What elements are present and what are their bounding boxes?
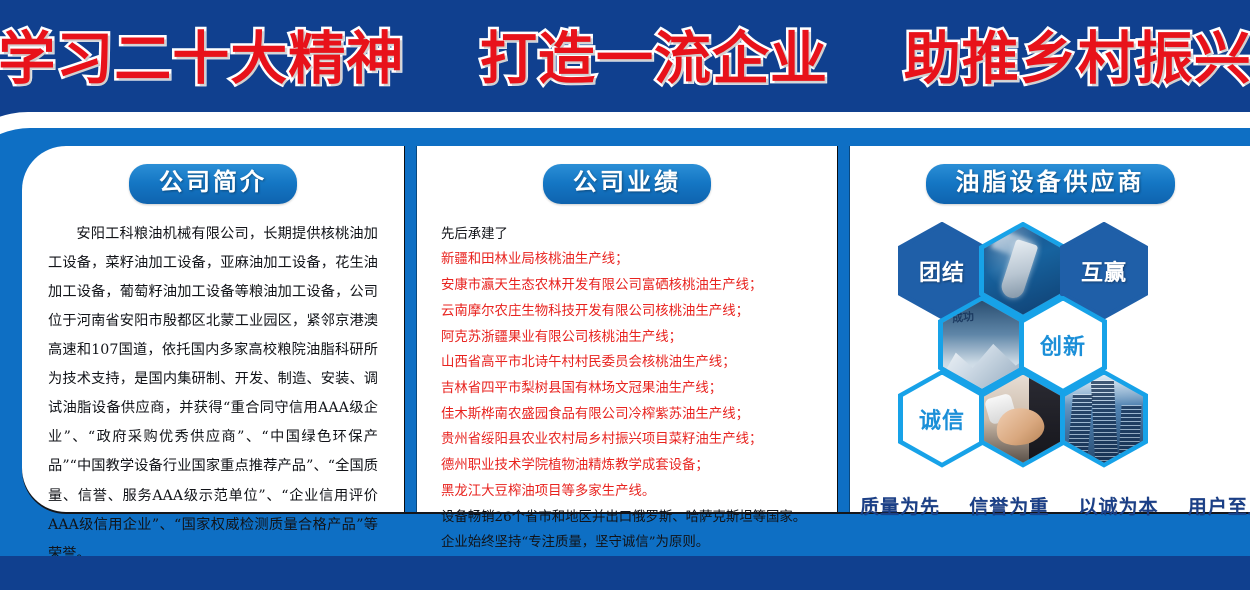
mountain-calligraphy: 成功 [952, 308, 976, 326]
poster-headline: 学习二十大精神 打造一流企业 助推乡村振兴 [0, 13, 1250, 95]
company-performance-body: 先后承建了 新疆和田林业局核桃油生产线； 安康市瀛天生态农林开发有限公司富硒核桃… [435, 222, 819, 557]
poster-board: 学习二十大精神 打造一流企业 助推乡村振兴 公司简介 安阳工科粮油机械有限公司，… [0, 0, 1250, 590]
performance-project: 贵州省绥阳县农业农村局乡村振兴项目菜籽油生产线； [441, 427, 819, 453]
company-intro-title: 公司简介 [129, 164, 297, 204]
panel-company-performance: 公司业绩 先后承建了 新疆和田林业局核桃油生产线； 安康市瀛天生态农林开发有限公… [417, 146, 837, 512]
bottom-navy-band [0, 556, 1250, 590]
performance-footer: 企业始终坚持“专注质量，坚守诚信”为原则。 [441, 530, 819, 556]
hex-mountain-inner: 成功 [943, 301, 1021, 389]
handshake-icon [984, 375, 1062, 463]
performance-project: 黑龙江大豆榨油项目等多家生产线。 [441, 479, 819, 505]
slogan-part-4: 用户至上 [1188, 496, 1250, 518]
performance-project: 新疆和田林业局核桃油生产线； [441, 247, 819, 273]
performance-project: 山西省高平市北诗午村村民委员会核桃油生产线； [441, 350, 819, 376]
hex-tuanjie-inner: 团结 [903, 227, 981, 315]
performance-project: 阿克苏浙疆果业有限公司核桃油生产线； [441, 325, 819, 351]
hex-chengxin-inner: 诚信 [903, 375, 981, 463]
hexagon-cluster: 团结 互赢 [860, 216, 1250, 478]
slogan-part-2: 信誉为重 [969, 496, 1049, 518]
slogan-part-1: 质量为先 [860, 496, 940, 518]
company-performance-title-wrap: 公司业绩 [435, 146, 819, 204]
company-intro-title-wrap: 公司简介 [44, 146, 382, 204]
hex-label: 创新 [1040, 329, 1086, 361]
headline-part-3: 助推乡村振兴 [904, 13, 1250, 95]
hex-chuangxin-inner: 创新 [1024, 301, 1102, 389]
hex-aircraft-carrier-inner [984, 227, 1062, 315]
performance-footer: 设备畅销26个省市和地区并出口俄罗斯、哈萨克斯坦等国家。 [441, 505, 819, 531]
hex-label: 诚信 [919, 403, 965, 435]
aircraft-carrier-icon [984, 227, 1062, 315]
headline-band: 学习二十大精神 打造一流企业 助推乡村振兴 [0, 0, 1250, 108]
hex-label: 团结 [919, 255, 965, 287]
performance-project: 吉林省四平市梨树县国有林场文冠果油生产线； [441, 376, 819, 402]
company-performance-title: 公司业绩 [543, 164, 711, 204]
performance-project: 佳木斯桦南农盛园食品有限公司冷榨紫苏油生产线； [441, 402, 819, 428]
performance-project: 云南摩尔农庄生物科技开发有限公司核桃油生产线； [441, 299, 819, 325]
hex-label: 互赢 [1081, 255, 1127, 287]
performance-project: 德州职业技术学院植物油精炼教学成套设备； [441, 453, 819, 479]
slogan-part-3: 以诚为本 [1079, 496, 1159, 518]
panels-row: 公司简介 安阳工科粮油机械有限公司，长期提供核桃油加工设备，菜籽油加工设备，亚麻… [22, 146, 1250, 512]
hex-huying-inner: 互赢 [1065, 227, 1143, 315]
panel-divider-2 [837, 146, 850, 512]
company-intro-body: 安阳工科粮油机械有限公司，长期提供核桃油加工设备，菜籽油加工设备，亚麻油加工设备… [44, 220, 382, 569]
hex-buildings-inner [1065, 375, 1143, 463]
performance-project: 安康市瀛天生态农林开发有限公司富硒核桃油生产线； [441, 273, 819, 299]
skyscraper-icon [1065, 375, 1143, 463]
supplier-title: 油脂设备供应商 [926, 164, 1175, 204]
tower-right [1118, 405, 1141, 463]
headline-part-2: 打造一流企业 [480, 13, 828, 95]
panel-supplier: 油脂设备供应商 团结 [850, 146, 1250, 512]
mountain-climb-icon: 成功 [943, 301, 1021, 389]
headline-part-1: 学习二十大精神 [0, 13, 404, 95]
tower-center [1091, 380, 1119, 463]
performance-lead: 先后承建了 [441, 222, 819, 248]
supplier-title-wrap: 油脂设备供应商 [860, 146, 1240, 204]
panel-divider-1 [404, 146, 417, 512]
supplier-slogan: 质量为先 信誉为重 以诚为本 用户至上 [860, 492, 1240, 519]
hex-handshake-inner [984, 375, 1062, 463]
panel-company-intro: 公司简介 安阳工科粮油机械有限公司，长期提供核桃油加工设备，菜籽油加工设备，亚麻… [22, 146, 404, 512]
